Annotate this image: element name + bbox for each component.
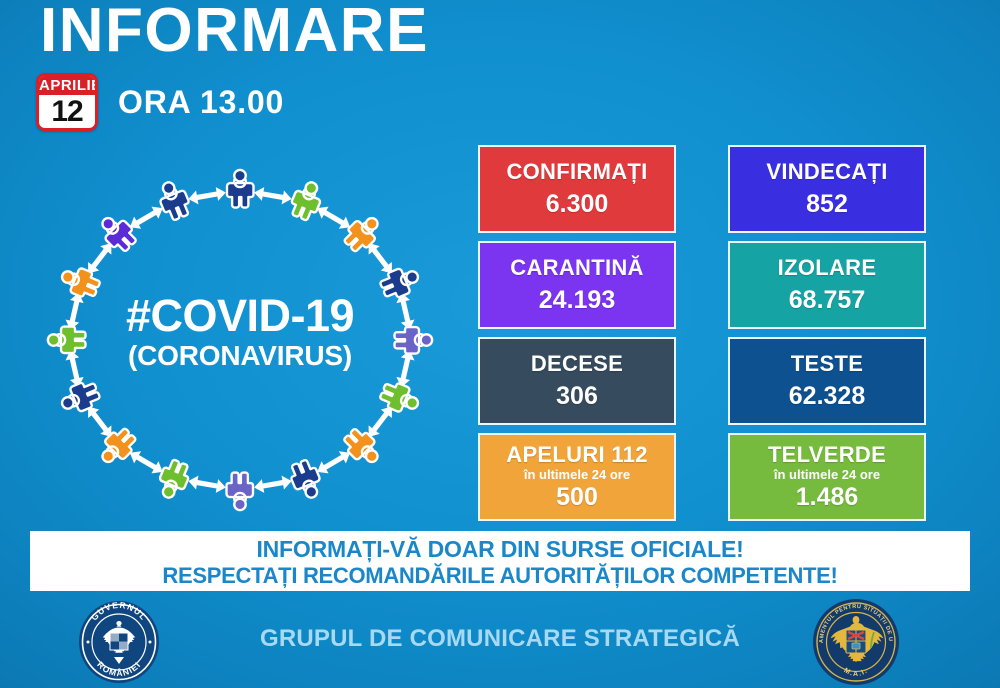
dsu-mai-emblem-icon: DEPARTAMENTUL PENTRU SITUAȚII DE URGENȚĂ… xyxy=(812,598,900,686)
stat-card-confirma-i: CONFIRMAȚI6.300 xyxy=(478,145,676,233)
stat-label: TESTE xyxy=(791,351,863,377)
stat-label: VINDECAȚI xyxy=(766,159,887,185)
person-figure-icon xyxy=(395,327,433,354)
stat-label: CONFIRMAȚI xyxy=(506,159,647,185)
calendar-icon: APRILIE 12 xyxy=(36,73,98,131)
person-figure-icon xyxy=(48,327,86,354)
stat-value: 852 xyxy=(806,189,848,219)
person-figure-icon xyxy=(287,457,326,502)
person-figure-icon xyxy=(287,178,326,223)
circle-people-svg xyxy=(30,160,450,520)
stat-sublabel: în ultimele 24 ore xyxy=(524,467,630,482)
double-arrow-icon xyxy=(187,186,227,206)
stat-label: TELVERDE xyxy=(768,442,886,468)
stat-label: DECESE xyxy=(531,351,623,377)
person-figure-icon xyxy=(95,210,140,255)
stat-card-izolare: IZOLARE68.757 xyxy=(728,241,926,329)
stat-card-telverde: TELVERDEîn ultimele 24 ore1.486 xyxy=(728,433,926,521)
notice-banner: INFORMAȚI-VĂ DOAR DIN SURSE OFICIALE! RE… xyxy=(30,531,970,591)
person-figure-icon xyxy=(340,424,385,469)
double-arrow-icon xyxy=(253,474,293,494)
stat-label: IZOLARE xyxy=(778,255,877,281)
infographic-poster: INFORMARE APRILIE 12 ORA 13.00 #COVID-19… xyxy=(0,0,1000,688)
stats-grid: CONFIRMAȚI6.300VINDECAȚI852CARANTINĂ24.1… xyxy=(478,145,928,521)
calendar-day: 12 xyxy=(39,95,95,128)
stat-card-teste: TESTE62.328 xyxy=(728,337,926,425)
double-arrow-icon xyxy=(187,474,227,494)
stat-label: APELURI 112 xyxy=(506,442,647,468)
stat-sublabel: în ultimele 24 ore xyxy=(774,467,880,482)
stat-value: 306 xyxy=(556,381,598,411)
stat-label: CARANTINĂ xyxy=(510,255,643,281)
stat-value: 62.328 xyxy=(789,381,865,411)
person-figure-icon xyxy=(95,424,140,469)
person-figure-icon xyxy=(227,170,254,208)
page-title: INFORMARE xyxy=(40,0,429,63)
calendar-month: APRILIE xyxy=(39,76,95,95)
notice-line-2: RESPECTAȚI RECOMANDĂRILE AUTORITĂȚILOR C… xyxy=(162,563,837,588)
stat-value: 68.757 xyxy=(789,285,865,315)
person-figure-icon xyxy=(154,457,193,502)
person-figure-icon xyxy=(340,211,385,256)
covid-circle-graphic: #COVID-19 (CORONAVIRUS) xyxy=(30,160,450,520)
stat-card-vindeca-i: VINDECAȚI852 xyxy=(728,145,926,233)
person-figure-icon xyxy=(227,473,254,511)
stat-value: 6.300 xyxy=(546,189,609,219)
notice-line-1: INFORMAȚI-VĂ DOAR DIN SURSE OFICIALE! xyxy=(256,536,743,563)
hour-label: ORA 13.00 xyxy=(118,84,284,121)
guvernul-romaniei-seal-icon: GUVERNUL ROMÂNIEI xyxy=(78,600,160,684)
date-row: APRILIE 12 ORA 13.00 xyxy=(36,73,284,131)
stat-value: 500 xyxy=(556,482,598,512)
stat-value: 24.193 xyxy=(539,285,615,315)
stat-value: 1.486 xyxy=(796,482,859,512)
person-figure-group xyxy=(48,170,432,510)
person-figure-icon xyxy=(154,178,193,223)
stat-card-decese: DECESE306 xyxy=(478,337,676,425)
stat-card-apeluri-112: APELURI 112în ultimele 24 ore500 xyxy=(478,433,676,521)
double-arrow-icon xyxy=(253,186,293,206)
stat-card-carantin: CARANTINĂ24.193 xyxy=(478,241,676,329)
